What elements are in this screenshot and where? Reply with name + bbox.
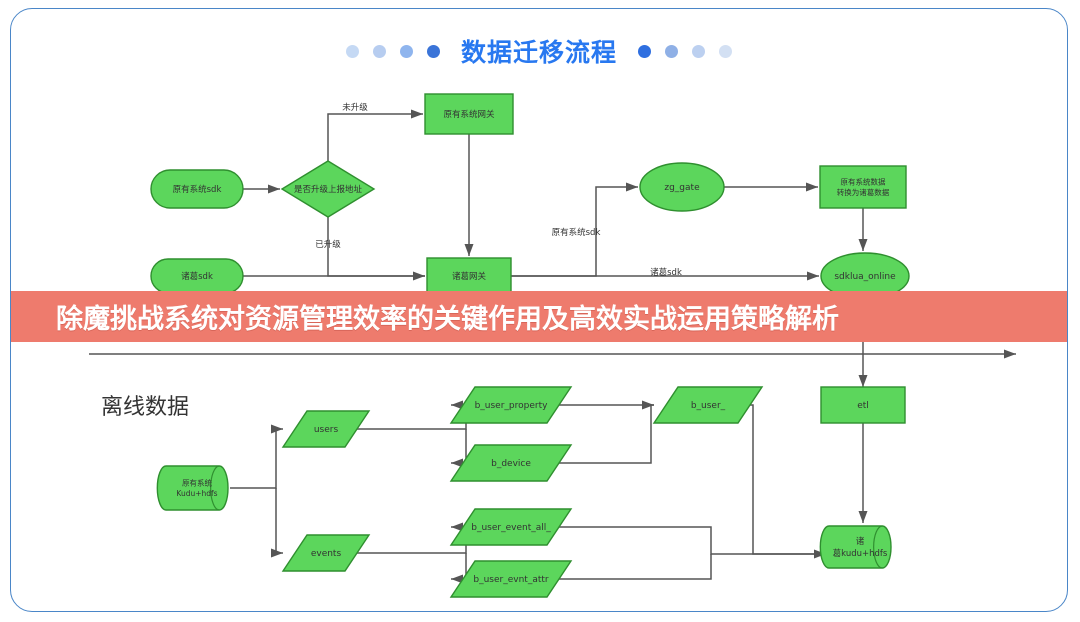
offline-section-label: 离线数据 <box>101 395 189 420</box>
flow-node-label: b_device <box>491 459 531 469</box>
flow-edge <box>276 488 283 553</box>
flow-node-dst-db[interactable]: 诸葛kudu+hdfs <box>820 526 891 568</box>
flow-node-src-db[interactable]: 原有系统Kudu+hdfs <box>157 466 228 510</box>
flow-edge-label: 已升级 <box>315 239 341 250</box>
flow-node-convert[interactable]: 原有系统数据转换为诸葛数据 <box>820 166 906 208</box>
flow-node-users[interactable]: users <box>283 411 369 447</box>
flow-node-label: users <box>314 425 339 435</box>
flow-node-zg-gate[interactable]: zg_gate <box>640 163 724 211</box>
flow-node-yyxt-sdk[interactable]: 原有系统sdk <box>151 170 243 208</box>
flow-edge <box>451 553 466 579</box>
flow-edge <box>559 527 826 554</box>
flow-node-decision[interactable]: 是否升级上报地址 <box>282 161 374 217</box>
flow-node-label: b_user_event_all_ <box>471 523 551 533</box>
flow-node-label: b_user_evnt_attr <box>473 575 549 585</box>
flow-edge <box>230 429 283 488</box>
flow-node-b-evt-attr[interactable]: b_user_evnt_attr <box>451 561 571 597</box>
flow-edge <box>328 114 423 161</box>
flow-node-zg-sdk[interactable]: 诸葛sdk <box>151 259 243 293</box>
flow-node-label: b_user_ <box>691 401 726 411</box>
flow-node-label: 原有系统网关 <box>443 109 495 120</box>
promo-banner: 除魔挑战系统对资源管理效率的关键作用及高效实战运用策略解析 <box>11 291 1068 342</box>
flow-node-b-evt-all[interactable]: b_user_event_all_ <box>451 509 571 545</box>
flow-node-zg-gateway[interactable]: 诸葛网关 <box>427 258 511 294</box>
svg-text:离线数据: 离线数据 <box>101 395 189 420</box>
flow-edge <box>559 405 654 463</box>
flow-edge-label: 诸葛sdk <box>650 267 682 278</box>
flow-node-b-user[interactable]: b_user_ <box>654 387 762 423</box>
flow-edge-label: 原有系统sdk <box>552 227 601 238</box>
flow-edge <box>559 554 711 579</box>
flow-node-b-device[interactable]: b_device <box>451 445 571 481</box>
flow-node-label: 诸葛sdk <box>181 271 213 282</box>
flow-node-b-user-prop[interactable]: b_user_property <box>451 387 571 423</box>
flow-node-events[interactable]: events <box>283 535 369 571</box>
flow-node-label: sdklua_online <box>834 272 896 282</box>
flow-node-label: zg_gate <box>664 183 700 193</box>
flow-node-yyxt-gateway[interactable]: 原有系统网关 <box>425 94 513 134</box>
promo-banner-text: 除魔挑战系统对资源管理效率的关键作用及高效实战运用策略解析 <box>56 297 839 336</box>
flow-node-label: 是否升级上报地址 <box>294 184 363 195</box>
flow-node-etl[interactable]: etl <box>821 387 905 423</box>
flow-node-label: etl <box>857 401 869 411</box>
flow-edge <box>350 405 466 429</box>
flow-edge-label: 未升级 <box>342 102 368 113</box>
nodes-layer: 原有系统sdk是否升级上报地址原有系统网关诸葛sdk诸葛网关zg_gate原有系… <box>151 94 909 597</box>
flow-edge <box>750 405 826 554</box>
flow-edge <box>328 217 425 276</box>
flow-node-label: b_user_property <box>475 401 549 411</box>
flow-node-label: 原有系统sdk <box>173 184 222 195</box>
flow-node-label: events <box>311 549 342 559</box>
flow-node-label: 诸葛网关 <box>452 271 487 282</box>
content-card: 数据迁移流程 离线数据 原有系统sdk是否升级上报地址原有系统网关诸葛sdk诸葛… <box>10 8 1068 612</box>
flow-edge <box>451 429 466 463</box>
flow-edge <box>350 527 466 553</box>
